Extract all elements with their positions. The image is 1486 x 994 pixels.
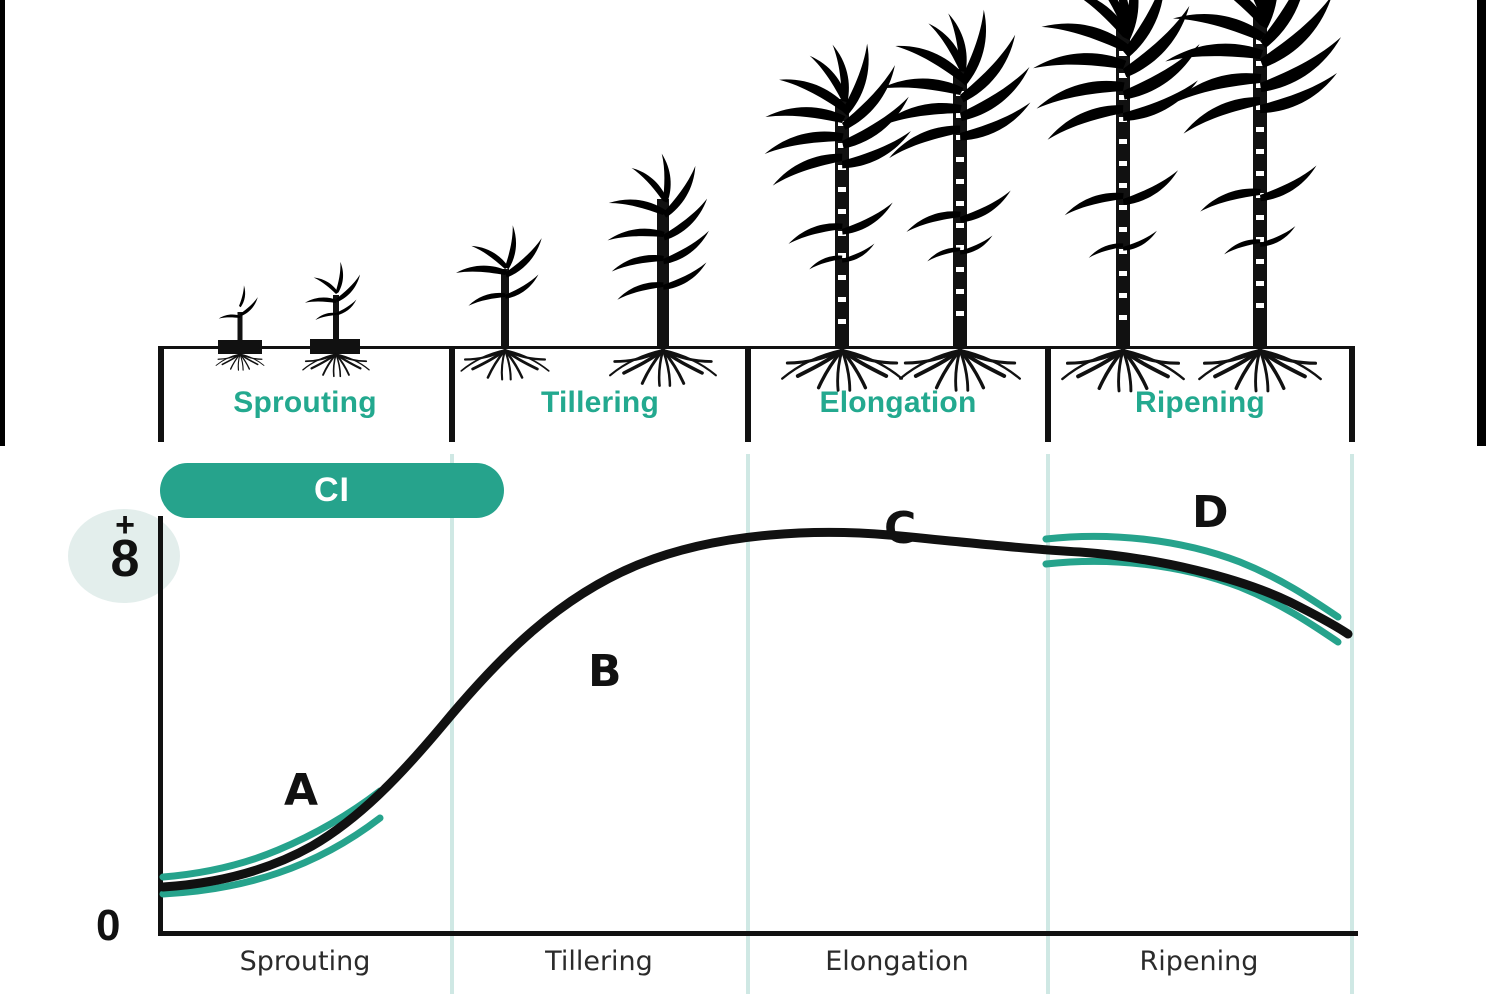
growth-curve-line bbox=[163, 532, 1348, 887]
y-axis-max-value: 8 bbox=[95, 539, 155, 580]
curve-annotation-d: D bbox=[1192, 487, 1229, 538]
figure-root: Sprouting Tillering Elongation Ripening … bbox=[0, 0, 1486, 994]
sugarcane-plants-illustration bbox=[0, 0, 1486, 446]
curve-annotation-a: A bbox=[284, 765, 318, 816]
x-tick-tillering: Tillering bbox=[452, 946, 746, 977]
plant-elongation-2 bbox=[879, 10, 1037, 391]
growth-curve-plot bbox=[0, 446, 1486, 994]
legend-ci-badge[interactable]: CI bbox=[160, 463, 504, 518]
chart-gridline-sprouting-end bbox=[450, 454, 454, 994]
plant-tillering-2 bbox=[608, 154, 716, 386]
stage-label-sprouting: Sprouting bbox=[158, 386, 452, 420]
y-axis-zero-label: 0 bbox=[96, 901, 120, 951]
stage-label-elongation: Elongation bbox=[748, 386, 1048, 420]
y-axis-line bbox=[158, 516, 163, 936]
plant-ripening-2 bbox=[1165, 0, 1347, 391]
ci-upper-ripening bbox=[1046, 536, 1338, 617]
chart-gridline-tillering-end bbox=[746, 454, 750, 994]
x-tick-ripening: Ripening bbox=[1048, 946, 1350, 977]
curve-annotation-b: B bbox=[588, 646, 622, 697]
ci-lower-sprouting bbox=[163, 818, 380, 894]
stage-label-ripening: Ripening bbox=[1048, 386, 1352, 420]
plant-ripening-1 bbox=[1033, 0, 1207, 391]
plant-elongation-1 bbox=[765, 44, 917, 391]
y-axis-max-label: + 8 bbox=[95, 512, 155, 579]
stage-label-tillering: Tillering bbox=[452, 386, 748, 420]
x-tick-elongation: Elongation bbox=[748, 946, 1046, 977]
plant-tillering-1 bbox=[456, 225, 551, 379]
growth-curve-chart: CI + 8 0 A B C D Sprouting Tillering Elo… bbox=[0, 446, 1486, 994]
ci-lower-ripening bbox=[1046, 561, 1338, 642]
ground-level-line bbox=[158, 346, 1355, 349]
x-tick-sprouting: Sprouting bbox=[160, 946, 450, 977]
plant-sprouting-2 bbox=[303, 262, 369, 376]
plant-sprouting-1 bbox=[216, 285, 264, 370]
x-axis-line bbox=[158, 931, 1358, 936]
curve-annotation-c: C bbox=[884, 503, 916, 554]
ci-upper-sprouting bbox=[163, 791, 380, 877]
chart-gridline-elongation-end bbox=[1046, 454, 1050, 994]
chart-gridline-ripening-end bbox=[1350, 454, 1354, 994]
growth-stage-panel: Sprouting Tillering Elongation Ripening bbox=[0, 0, 1486, 446]
